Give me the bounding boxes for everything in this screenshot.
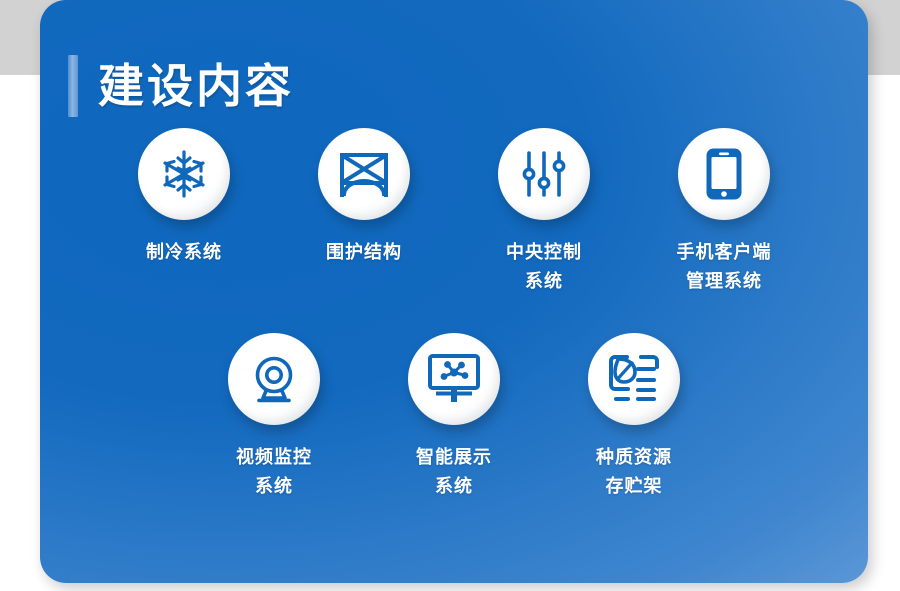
webcam-icon	[249, 354, 299, 404]
feature-item-mobile-client[interactable]: 手机客户端 管理系统	[634, 128, 814, 296]
title-accent-bar	[68, 55, 78, 117]
icon-bubble[interactable]	[498, 128, 590, 220]
feature-label: 视频监控 系统	[236, 443, 312, 501]
icon-bubble[interactable]	[408, 333, 500, 425]
mobile-phone-icon	[705, 147, 743, 201]
feature-row-2: 视频监控 系统	[40, 333, 868, 501]
feature-label: 手机客户端 管理系统	[677, 238, 772, 296]
feature-row-1: 制冷系统 围护结构	[40, 128, 868, 296]
page-title-text: 建设内容	[98, 63, 294, 109]
building-envelope-truss-icon	[338, 150, 390, 198]
feature-item-smart-display[interactable]: 智能展示 系统	[364, 333, 544, 501]
icon-bubble[interactable]	[588, 333, 680, 425]
feature-item-germplasm-rack[interactable]: 种质资源 存贮架	[544, 333, 724, 501]
content-panel: 建设内容	[40, 0, 868, 583]
slide-root: 建设内容	[0, 0, 900, 591]
smart-display-network-icon	[428, 354, 480, 404]
icon-bubble[interactable]	[678, 128, 770, 220]
icon-bubble[interactable]	[318, 128, 410, 220]
sliders-control-icon	[519, 149, 569, 199]
feature-item-central-control[interactable]: 中央控制 系统	[454, 128, 634, 296]
icon-bubble[interactable]	[138, 128, 230, 220]
icon-bubble[interactable]	[228, 333, 320, 425]
germplasm-storage-rack-icon	[608, 354, 660, 404]
feature-item-cooling[interactable]: 制冷系统	[94, 128, 274, 296]
feature-label: 智能展示 系统	[416, 443, 492, 501]
feature-item-envelope-structure[interactable]: 围护结构	[274, 128, 454, 296]
page-title: 建设内容	[68, 55, 294, 117]
feature-label: 围护结构	[326, 238, 402, 267]
feature-item-video-surveillance[interactable]: 视频监控 系统	[184, 333, 364, 501]
feature-label: 中央控制 系统	[506, 238, 582, 296]
snowflake-icon	[158, 148, 210, 200]
feature-label: 种质资源 存贮架	[596, 443, 672, 501]
feature-label: 制冷系统	[146, 238, 222, 267]
